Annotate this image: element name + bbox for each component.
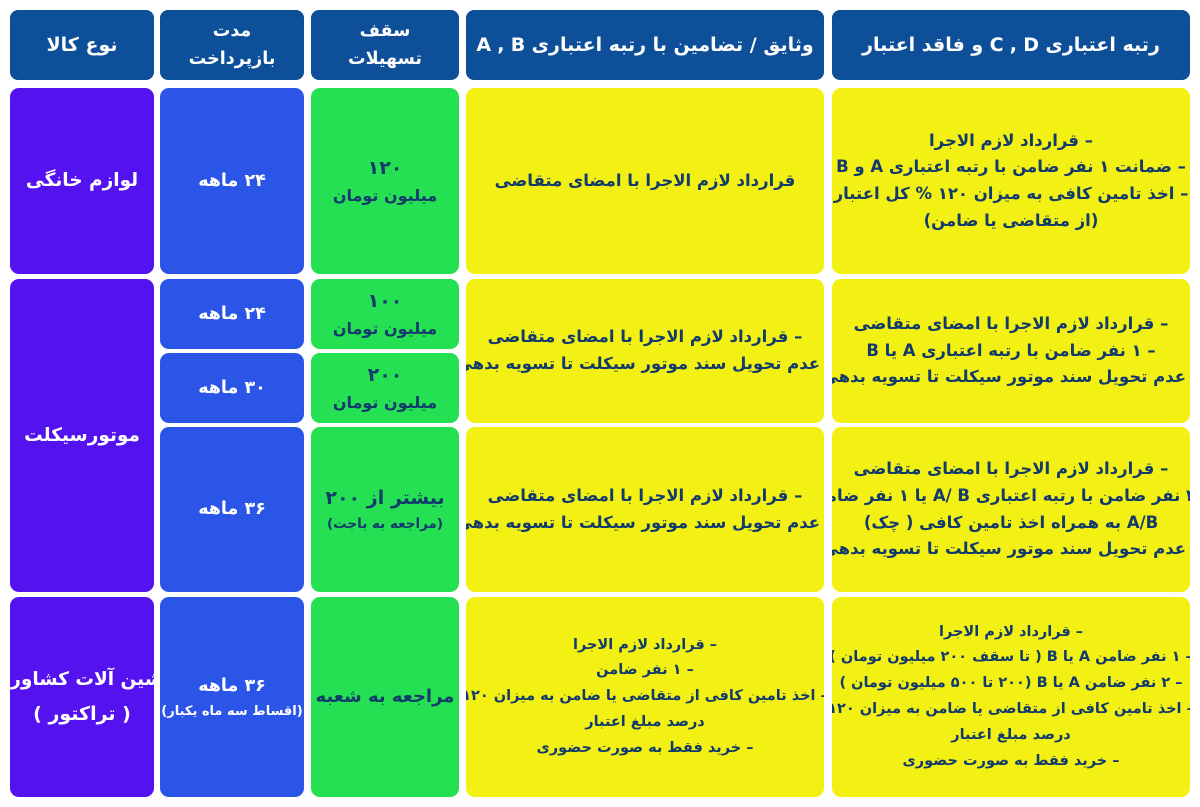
guarantee-cd-cell-motorcycle-a: – قرارداد لازم الاجرا با امضای متقاضی – … bbox=[832, 279, 1190, 423]
repayment-cell-motorcycle-24: ۲۴ ماهه bbox=[160, 279, 304, 349]
ceiling-value: ۱۰۰ bbox=[368, 286, 403, 317]
ceiling-unit: میلیون تومان bbox=[333, 390, 437, 416]
bullet-list: قرارداد لازم الاجرا با امضای متقاضی bbox=[495, 168, 796, 195]
facilities-table: نوع کالا مدت بازپرداخت سقف تسهیلات وثایق… bbox=[0, 0, 1200, 807]
bullet-item: – عدم تحویل سند موتور سیکلت تا تسویه بده… bbox=[466, 351, 824, 378]
bullet-item: A/B به همراه اخذ تامین کافی ( چک) bbox=[864, 510, 1158, 537]
ceiling-cell-home-appliances: ۱۲۰ میلیون تومان bbox=[311, 88, 459, 274]
ceiling-note: (مراجعه به باجت) bbox=[327, 514, 443, 536]
guarantee-cd-cell-agricultural-machinery: – قرارداد لازم الاجرا – ۱ نفر ضامن A یا … bbox=[832, 597, 1190, 797]
header-label: رتبه اعتباری C , D و فاقد اعتبار bbox=[862, 30, 1160, 61]
bullet-item: (از متقاضی یا ضامن) bbox=[924, 208, 1099, 235]
header-label: نوع کالا bbox=[47, 30, 118, 61]
product-cell-agricultural-machinery: ماشین آلات کشاورزی ( تراکتور ) bbox=[10, 597, 154, 797]
bullet-item: – اخذ تامین کافی به میزان ۱۲۰ % کل اعتبا… bbox=[834, 181, 1189, 208]
repayment-note: (اقساط سه ماه یکبار) bbox=[161, 701, 302, 722]
repayment-value: ۳۶ ماهه bbox=[198, 495, 266, 523]
product-subtitle: ( تراکتور ) bbox=[33, 699, 131, 730]
header-repayment-period: مدت بازپرداخت bbox=[160, 10, 304, 80]
bullet-item: – قرارداد لازم الاجرا با امضای متقاضی bbox=[854, 311, 1169, 338]
header-guarantee-cd: نوع کالا bbox=[10, 10, 154, 80]
bullet-item: قرارداد لازم الاجرا با امضای متقاضی bbox=[495, 168, 796, 195]
product-cell-home-appliances: لوازم خانگی bbox=[10, 88, 154, 274]
bullet-item: – اخذ تامین کافی از متقاضی یا ضامن به می… bbox=[466, 684, 824, 710]
header-guarantee-cd-rank: رتبه اعتباری C , D و فاقد اعتبار bbox=[832, 10, 1190, 80]
bullet-item: – ۲ نفر ضامن با رتبه اعتباری A/ B یا ۱ ن… bbox=[832, 483, 1190, 510]
repayment-cell-agricultural-machinery: ۳۶ ماهه (اقساط سه ماه یکبار) bbox=[160, 597, 304, 797]
bullet-item: – عدم تحویل سند موتور سیکلت تا تسویه بده… bbox=[466, 510, 824, 537]
bullet-item: – ۱ نفر ضامن A یا B ( تا سقف ۲۰۰ میلیون … bbox=[832, 645, 1190, 671]
bullet-item: – قرارداد لازم الاجرا با امضای متقاضی bbox=[488, 483, 803, 510]
repayment-value: ۲۴ ماهه bbox=[198, 300, 266, 328]
bullet-item: – قرارداد لازم الاجرا bbox=[939, 620, 1083, 646]
ceiling-value: بیشتر از ۲۰۰ bbox=[325, 483, 444, 514]
ceiling-value: ۱۲۰ bbox=[368, 153, 403, 184]
bullet-item: – عدم تحویل سند موتور سیکلت تا تسویه بده… bbox=[832, 364, 1190, 391]
repayment-value: ۲۴ ماهه bbox=[198, 167, 266, 195]
bullet-item: – ۱ نفر ضامن با رتبه اعتباری A یا B bbox=[866, 338, 1155, 365]
bullet-item: – عدم تحویل سند موتور سیکلت تا تسویه بده… bbox=[832, 536, 1190, 563]
product-title: لوازم خانگی bbox=[26, 166, 138, 196]
bullet-item: – ۱ نفر ضامن bbox=[596, 658, 694, 684]
repayment-value: ۳۶ ماهه bbox=[198, 672, 266, 700]
bullet-item: – قرارداد لازم الاجرا با امضای متقاضی bbox=[854, 456, 1169, 483]
bullet-item: – ضمانت ۱ نفر ضامن با رتبه اعتباری A و B bbox=[836, 154, 1186, 181]
ceiling-cell-motorcycle-100: ۱۰۰ میلیون تومان bbox=[311, 279, 459, 349]
ceiling-value: ۲۰۰ bbox=[368, 360, 403, 391]
repayment-cell-motorcycle-36: ۳۶ ماهه bbox=[160, 427, 304, 592]
ceiling-unit: میلیون تومان bbox=[333, 183, 437, 209]
guarantee-ab-cell-agricultural-machinery: – قرارداد لازم الاجرا – ۱ نفر ضامن – اخذ… bbox=[466, 597, 824, 797]
bullet-list: – قرارداد لازم الاجرا – ۱ نفر ضامن A یا … bbox=[832, 620, 1190, 775]
bullet-list: – قرارداد لازم الاجرا – ۱ نفر ضامن – اخذ… bbox=[466, 633, 824, 762]
guarantee-cd-cell-home-appliances: – قرارداد لازم الاجرا – ضمانت ۱ نفر ضامن… bbox=[832, 88, 1190, 274]
header-facility-ceiling: سقف تسهیلات bbox=[311, 10, 459, 80]
header-label: مدت بازپرداخت bbox=[170, 17, 294, 74]
product-cell-motorcycle: موتورسیکلت bbox=[10, 279, 154, 592]
bullet-list: – قرارداد لازم الاجرا – ضمانت ۱ نفر ضامن… bbox=[834, 128, 1189, 235]
repayment-cell-home-appliances: ۲۴ ماهه bbox=[160, 88, 304, 274]
header-label: وثایق / تضامین با رتبه اعتباری A , B bbox=[476, 30, 813, 61]
bullet-list: – قرارداد لازم الاجرا با امضای متقاضی – … bbox=[466, 324, 824, 377]
ceiling-cell-motorcycle-over200: بیشتر از ۲۰۰ (مراجعه به باجت) bbox=[311, 427, 459, 592]
product-title: ماشین آلات کشاورزی bbox=[10, 665, 154, 695]
guarantee-ab-cell-motorcycle-a: – قرارداد لازم الاجرا با امضای متقاضی – … bbox=[466, 279, 824, 423]
product-title: موتورسیکلت bbox=[24, 421, 140, 451]
bullet-item: – خرید فقط به صورت حضوری bbox=[903, 749, 1120, 775]
ceiling-cell-motorcycle-200: ۲۰۰ میلیون تومان bbox=[311, 353, 459, 423]
ceiling-cell-agricultural-machinery: مراجعه به شعبه bbox=[311, 597, 459, 797]
bullet-item: – اخذ تامین کافی از متقاضی یا ضامن به می… bbox=[832, 697, 1190, 723]
bullet-item: درصد مبلغ اعتبار bbox=[951, 723, 1071, 749]
bullet-list: – قرارداد لازم الاجرا با امضای متقاضی – … bbox=[832, 311, 1190, 391]
bullet-list: – قرارداد لازم الاجرا با امضای متقاضی – … bbox=[466, 483, 824, 536]
bullet-list: – قرارداد لازم الاجرا با امضای متقاضی – … bbox=[832, 456, 1190, 563]
bullet-item: – خرید فقط به صورت حضوری bbox=[537, 736, 754, 762]
ceiling-unit: میلیون تومان bbox=[333, 316, 437, 342]
repayment-value: ۳۰ ماهه bbox=[198, 374, 266, 402]
bullet-item: – ۲ نفر ضامن A یا B (۲۰۰ تا ۵۰۰ میلیون ت… bbox=[839, 671, 1182, 697]
guarantee-ab-cell-home-appliances: قرارداد لازم الاجرا با امضای متقاضی bbox=[466, 88, 824, 274]
ceiling-value: مراجعه به شعبه bbox=[316, 682, 455, 711]
repayment-cell-motorcycle-30: ۳۰ ماهه bbox=[160, 353, 304, 423]
header-label: سقف تسهیلات bbox=[321, 17, 449, 74]
header-guarantee-ab: وثایق / تضامین با رتبه اعتباری A , B bbox=[466, 10, 824, 80]
bullet-item: درصد مبلغ اعتبار bbox=[585, 710, 705, 736]
bullet-item: – قرارداد لازم الاجرا bbox=[929, 128, 1093, 155]
guarantee-ab-cell-motorcycle-b: – قرارداد لازم الاجرا با امضای متقاضی – … bbox=[466, 427, 824, 592]
bullet-item: – قرارداد لازم الاجرا bbox=[573, 633, 717, 659]
bullet-item: – قرارداد لازم الاجرا با امضای متقاضی bbox=[488, 324, 803, 351]
guarantee-cd-cell-motorcycle-b: – قرارداد لازم الاجرا با امضای متقاضی – … bbox=[832, 427, 1190, 592]
